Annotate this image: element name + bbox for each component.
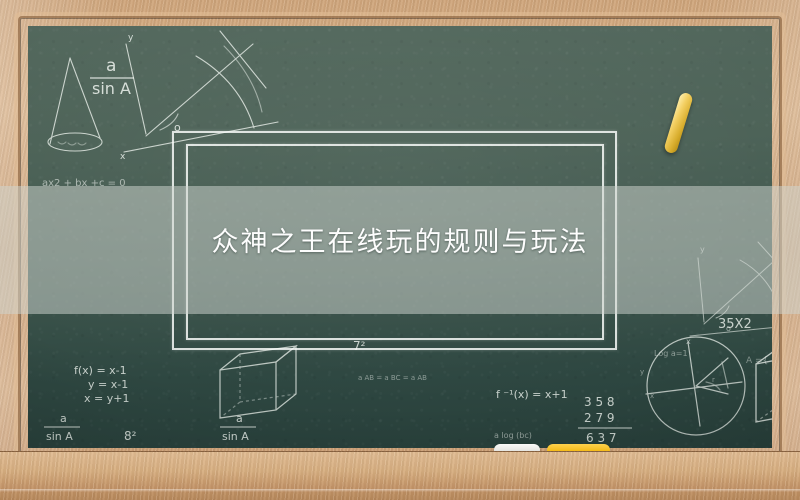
ledge-highlight: [0, 489, 800, 492]
chalkboard-banner: a sin A y x o ax2 + bx +c = 0: [0, 0, 800, 500]
page-title: 众神之王在线玩的规则与玩法: [0, 226, 800, 260]
wooden-ledge: [0, 451, 800, 500]
